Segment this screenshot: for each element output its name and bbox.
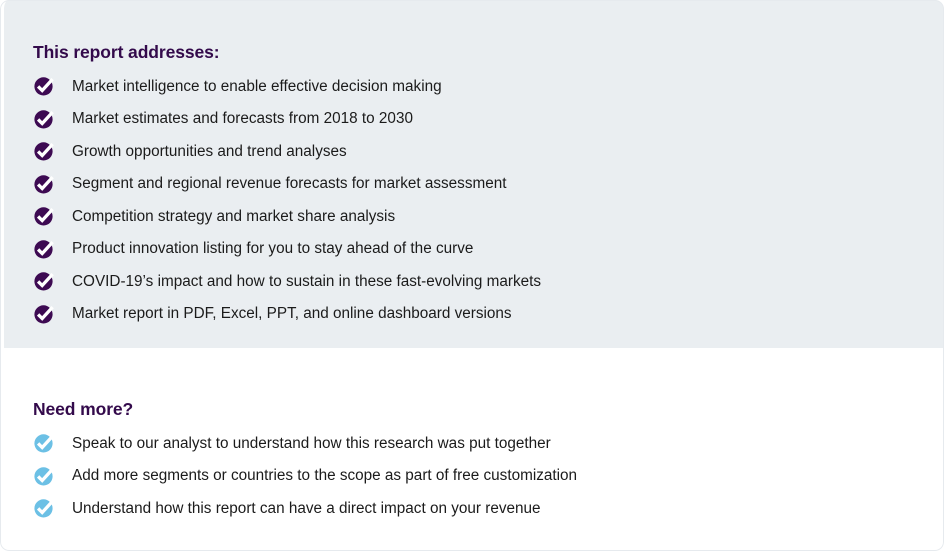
check-circle-icon bbox=[33, 433, 54, 454]
check-circle-icon bbox=[33, 108, 54, 129]
check-circle-icon bbox=[33, 303, 54, 324]
list-item: Understand how this report can have a di… bbox=[0, 492, 944, 525]
check-circle-icon bbox=[33, 173, 54, 194]
check-circle-icon bbox=[33, 498, 54, 519]
list-item: Product innovation listing for you to st… bbox=[0, 233, 944, 266]
report-item-label: Product innovation listing for you to st… bbox=[72, 241, 473, 256]
list-item: Speak to our analyst to understand how t… bbox=[0, 427, 944, 460]
report-item-label: Growth opportunities and trend analyses bbox=[72, 144, 347, 159]
list-item: Market intelligence to enable effective … bbox=[0, 70, 944, 103]
check-circle-icon bbox=[33, 465, 54, 486]
report-addresses-heading: This report addresses: bbox=[33, 42, 219, 63]
list-item: Growth opportunities and trend analyses bbox=[0, 135, 944, 168]
report-item-label: COVID-19’s impact and how to sustain in … bbox=[72, 274, 541, 289]
list-item: Competition strategy and market share an… bbox=[0, 200, 944, 233]
list-item: Market report in PDF, Excel, PPT, and on… bbox=[0, 298, 944, 331]
need-more-list: Speak to our analyst to understand how t… bbox=[0, 427, 944, 525]
need-more-item-label: Add more segments or countries to the sc… bbox=[72, 468, 577, 483]
check-circle-icon bbox=[33, 206, 54, 227]
list-item: Segment and regional revenue forecasts f… bbox=[0, 168, 944, 201]
report-addresses-list: Market intelligence to enable effective … bbox=[0, 70, 944, 330]
report-item-label: Segment and regional revenue forecasts f… bbox=[72, 176, 506, 191]
report-item-label: Market estimates and forecasts from 2018… bbox=[72, 111, 413, 126]
report-item-label: Market report in PDF, Excel, PPT, and on… bbox=[72, 306, 512, 321]
report-item-label: Market intelligence to enable effective … bbox=[72, 79, 442, 94]
check-circle-icon bbox=[33, 271, 54, 292]
check-circle-icon bbox=[33, 141, 54, 162]
report-highlights-card: This report addresses: Market intelligen… bbox=[0, 0, 944, 551]
need-more-item-label: Understand how this report can have a di… bbox=[72, 501, 541, 516]
list-item: Add more segments or countries to the sc… bbox=[0, 460, 944, 493]
need-more-item-label: Speak to our analyst to understand how t… bbox=[72, 436, 551, 451]
check-circle-icon bbox=[33, 238, 54, 259]
report-item-label: Competition strategy and market share an… bbox=[72, 209, 395, 224]
need-more-heading: Need more? bbox=[33, 399, 133, 420]
list-item: COVID-19’s impact and how to sustain in … bbox=[0, 265, 944, 298]
list-item: Market estimates and forecasts from 2018… bbox=[0, 103, 944, 136]
check-circle-icon bbox=[33, 76, 54, 97]
